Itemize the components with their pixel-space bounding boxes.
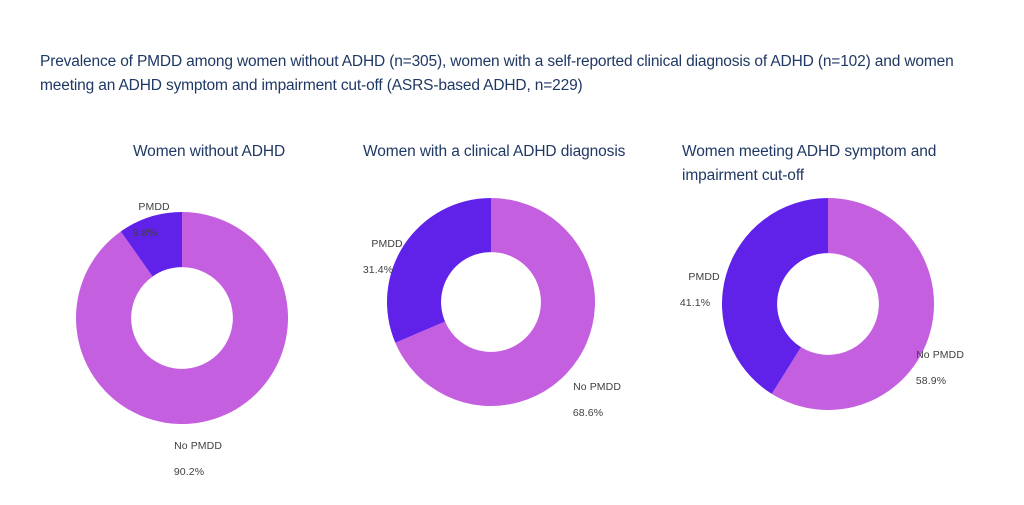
chart-title: Women with a clinical ADHD diagnosis: [363, 140, 633, 164]
callout-no-pmdd: No PMDD 68.6%: [545, 368, 631, 446]
callout-value: 41.1%: [662, 297, 728, 310]
chart-panel-clinical-adhd-diagnosis: Women with a clinical ADHD diagnosis PMD…: [345, 140, 645, 445]
callout-category: PMDD: [371, 238, 402, 250]
callout-category: No PMDD: [573, 381, 621, 393]
callout-category: No PMDD: [916, 349, 964, 361]
callout-no-pmdd: No PMDD 58.9%: [888, 336, 974, 414]
chart-panel-women-without-adhd: Women without ADHD PMDD 9.8% No PMDD 90.…: [52, 140, 342, 445]
page-title: Prevalence of PMDD among women without A…: [40, 50, 992, 98]
callout-value: 58.9%: [888, 375, 974, 388]
callout-no-pmdd: No PMDD 90.2%: [146, 427, 232, 505]
callout-pmdd: PMDD 31.4%: [347, 225, 409, 303]
donut-svg: [76, 212, 288, 424]
donut-slices: [76, 212, 288, 424]
chart-title: Women meeting ADHD symptom and impairmen…: [682, 140, 1002, 188]
callout-value: 31.4%: [347, 264, 409, 277]
callout-category: PMDD: [688, 271, 719, 283]
callout-value: 68.6%: [545, 407, 631, 420]
callout-category: PMDD: [138, 201, 169, 213]
callout-value: 90.2%: [146, 466, 232, 479]
callout-value: 9.8%: [110, 227, 180, 240]
callout-category: No PMDD: [174, 440, 222, 452]
chart-title: Women without ADHD: [84, 140, 334, 164]
callout-pmdd: PMDD 41.1%: [662, 258, 728, 336]
donut-chart-women-without-adhd: [76, 212, 288, 424]
callout-pmdd: PMDD 9.8%: [110, 188, 180, 266]
chart-panel-adhd-cutoff: Women meeting ADHD symptom and impairmen…: [660, 140, 1005, 445]
slide-canvas: Prevalence of PMDD among women without A…: [0, 0, 1024, 445]
